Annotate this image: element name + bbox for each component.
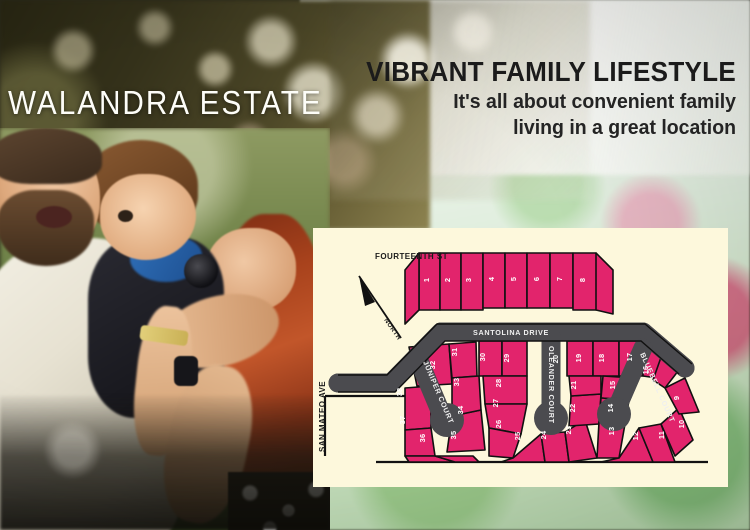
street-label-fourteenth-st: FOURTEENTH ST bbox=[375, 252, 448, 261]
lot-number-11: 11 bbox=[657, 431, 666, 439]
father-hair bbox=[0, 128, 102, 184]
fitness-tracker bbox=[174, 356, 198, 386]
child-eye bbox=[118, 210, 133, 222]
poster-canvas: WALANDRA ESTATE VIBRANT FAMILY LIFESTYLE… bbox=[0, 0, 750, 530]
lot-number-37: 37 bbox=[398, 416, 407, 425]
family-photo bbox=[0, 128, 330, 530]
father-beard bbox=[0, 190, 94, 266]
estate-site-map[interactable]: NORTH FOURTEENTH ST SAN MATEO AVE SANTOL… bbox=[313, 228, 728, 487]
lot-number-24: 24 bbox=[539, 430, 548, 439]
father-mouth bbox=[36, 206, 72, 228]
headline: VIBRANT FAMILY LIFESTYLE bbox=[360, 57, 736, 86]
lot-number-10: 10 bbox=[677, 420, 686, 429]
estate-title: WALANDRA ESTATE bbox=[8, 86, 323, 119]
lot-number-25: 25 bbox=[513, 432, 522, 441]
lot-number-21: 21 bbox=[569, 381, 578, 390]
lot-number-1: 1 bbox=[422, 278, 431, 282]
lot-number-20: 20 bbox=[551, 355, 560, 364]
lot-28 bbox=[483, 376, 527, 404]
site-map-svg[interactable]: NORTH FOURTEENTH ST SAN MATEO AVE SANTOL… bbox=[313, 228, 728, 487]
subheadline-line-1: It's all about convenient family bbox=[352, 89, 736, 115]
lot-number-28: 28 bbox=[494, 379, 503, 388]
lot-number-35: 35 bbox=[449, 431, 458, 440]
lot-number-5: 5 bbox=[509, 277, 518, 281]
lot-number-12: 12 bbox=[631, 432, 640, 441]
lot-number-16: 16 bbox=[641, 366, 650, 375]
lot-number-32: 32 bbox=[428, 361, 437, 370]
lot-number-27: 27 bbox=[491, 399, 500, 408]
lot-number-23: 23 bbox=[564, 426, 573, 435]
wristwatch-face bbox=[184, 254, 218, 288]
lot-number-14: 14 bbox=[606, 403, 615, 412]
lot-number-34: 34 bbox=[456, 405, 465, 414]
lot-number-8: 8 bbox=[578, 278, 587, 282]
north-arrow-label: NORTH bbox=[382, 317, 402, 341]
subheadline-line-2: living in a great location bbox=[352, 115, 736, 141]
photo-foreground-shadow bbox=[0, 396, 330, 530]
bluebell-bulb bbox=[597, 397, 631, 431]
lot-number-29: 29 bbox=[502, 354, 511, 363]
lot-number-22: 22 bbox=[568, 404, 577, 413]
lot-number-36: 36 bbox=[418, 434, 427, 443]
lot-number-33: 33 bbox=[452, 378, 461, 387]
north-arrow-icon: NORTH bbox=[359, 276, 402, 342]
lot-31 bbox=[449, 342, 477, 378]
lot-number-13: 13 bbox=[607, 427, 616, 436]
lot-number-38: 38 bbox=[395, 388, 404, 397]
lot-number-6: 6 bbox=[532, 277, 541, 281]
lot-number-19: 19 bbox=[574, 354, 583, 363]
lot-block-edge-nw bbox=[405, 253, 419, 324]
lot-number-17: 17 bbox=[625, 353, 634, 362]
lot-number-26: 26 bbox=[494, 420, 503, 429]
lot-number-4: 4 bbox=[487, 276, 496, 281]
lot-number-3: 3 bbox=[464, 278, 473, 282]
lot-number-7: 7 bbox=[555, 277, 564, 281]
street-label-san-mateo-ave: SAN MATEO AVE bbox=[318, 381, 327, 452]
lot-number-31: 31 bbox=[450, 348, 459, 357]
lot-number-15: 15 bbox=[608, 381, 617, 390]
lot-number-2: 2 bbox=[443, 278, 452, 282]
lot-number-30: 30 bbox=[478, 353, 487, 362]
lot-number-18: 18 bbox=[597, 354, 606, 363]
road-label-santolina-drive: SANTOLINA DRIVE bbox=[473, 328, 549, 337]
lot-number-9: 9 bbox=[672, 396, 681, 400]
lot-block-edge-ne bbox=[596, 253, 613, 314]
subheadline: It's all about convenient family living … bbox=[352, 89, 736, 141]
